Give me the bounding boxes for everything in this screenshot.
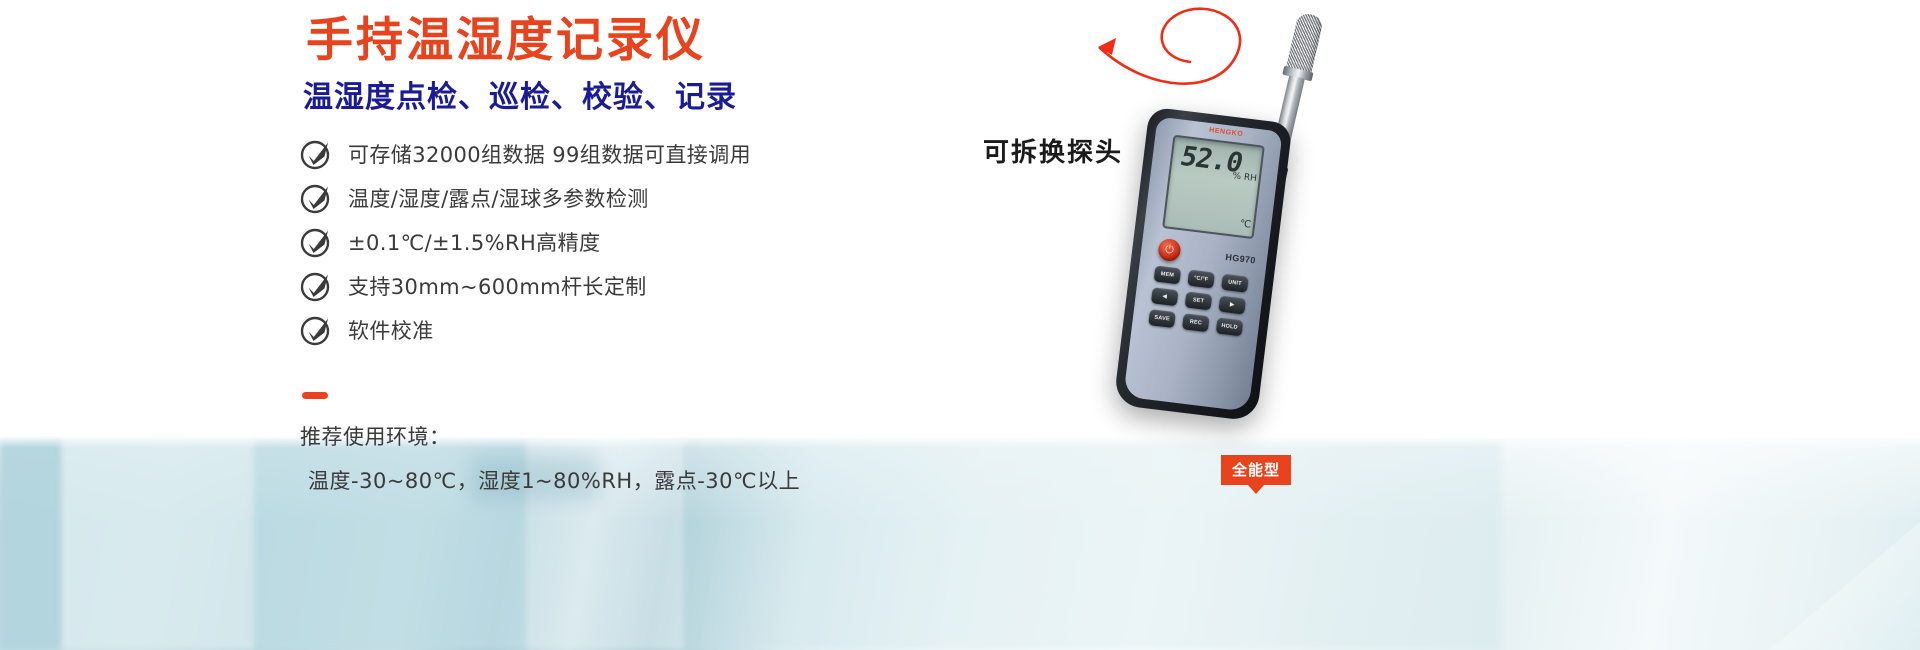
banner-subtitle: 温湿度点检、巡检、校验、记录 [303,80,737,116]
lcd-display: 52.0 % RH 28.08 ℃ [1162,135,1265,240]
banner-title: 手持温湿度记录仪 [306,16,706,65]
feature-text: 支持30mm~600mm杆长定制 [348,271,647,301]
device-key[interactable]: HOLD [1216,317,1244,336]
device-model-label: HG970 [1225,252,1257,266]
feature-text: 可存储32000组数据 99组数据可直接调用 [348,139,751,169]
device-key[interactable]: SAVE [1148,309,1176,328]
device-key[interactable]: UNIT [1221,274,1249,293]
device-key[interactable]: ◀ [1151,287,1179,306]
circle-check-icon [300,137,334,171]
feature-item: 支持30mm~600mm杆长定制 [300,265,751,306]
lcd-temperature-value: 28.08 [1162,226,1240,239]
device-key[interactable]: ▶ [1218,296,1246,315]
device-key[interactable]: °C/°F [1187,270,1215,289]
circle-check-icon [300,313,334,347]
device-keypad: MEM °C/°F UNIT ◀ SET ▶ SAVE REC HOLD [1153,265,1252,277]
usage-note: 推荐使用环境： 温度-30~80℃，湿度1~80%RH，露点-30℃以上 [300,392,1000,495]
lcd-temperature-row: 28.08 ℃ [1165,181,1258,235]
circle-check-icon [300,269,334,303]
feature-text: ±0.1℃/±1.5%RH高精度 [348,227,600,257]
status-badge: 全能型 [1221,455,1291,485]
background-top-white [0,0,1920,438]
lcd-humidity-unit: % RH [1232,171,1257,184]
product-banner: 手持温湿度记录仪 温湿度点检、巡检、校验、记录 可存储32000组数据 99组数… [0,0,1920,650]
handheld-meter-device: HENGKO 52.0 % RH 28.08 ℃ HG970 MEM °C/°F [1112,107,1388,444]
probe-mesh-filter [1286,12,1324,74]
feature-list: 可存储32000组数据 99组数据可直接调用 温度/湿度/露点/湿球多参数检测 [300,133,751,353]
device-key[interactable]: REC [1182,313,1210,332]
circle-check-icon [300,181,334,215]
feature-item: 可存储32000组数据 99组数据可直接调用 [300,133,751,174]
device-front-panel: HENGKO 52.0 % RH 28.08 ℃ HG970 MEM °C/°F [1123,117,1282,412]
power-button-icon[interactable] [1157,238,1182,263]
feature-item: 温度/湿度/露点/湿球多参数检测 [300,177,751,218]
device-key[interactable]: MEM [1154,265,1182,284]
feature-text: 温度/湿度/露点/湿球多参数检测 [348,183,649,213]
probe-callout-label: 可拆换探头 [983,132,1123,169]
circle-check-icon [300,225,334,259]
feature-item: ±0.1℃/±1.5%RH高精度 [300,221,751,262]
lcd-temperature-unit: ℃ [1239,218,1251,230]
note-value: 温度-30~80℃，湿度1~80%RH，露点-30℃以上 [300,465,1000,495]
note-dash-divider [302,392,328,399]
feature-item: 软件校准 [300,309,751,350]
curved-arrow-icon [1040,0,1290,110]
device-key[interactable]: SET [1185,291,1213,310]
feature-text: 软件校准 [348,315,434,345]
note-label: 推荐使用环境： [300,421,1000,451]
